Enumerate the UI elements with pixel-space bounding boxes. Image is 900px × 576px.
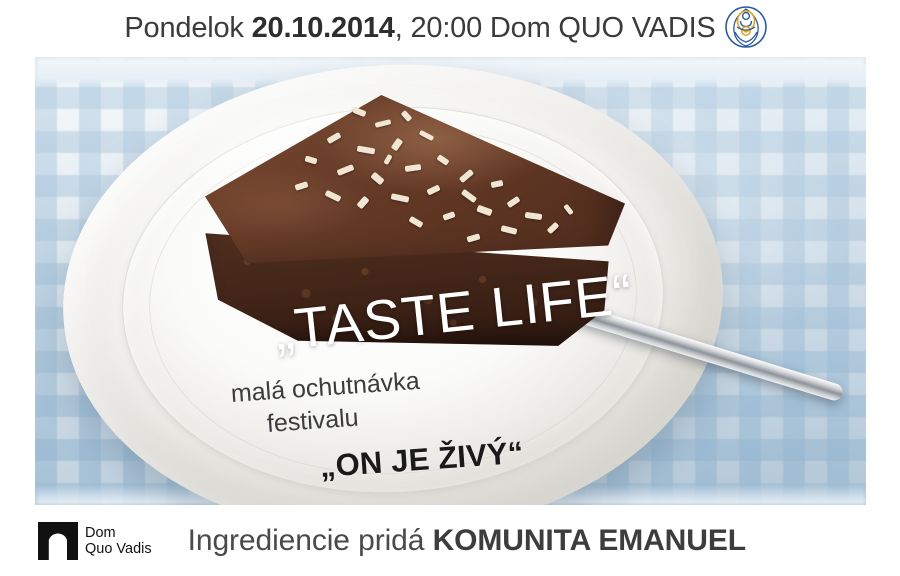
poster-footer: Dom Quo Vadis Ingrediencie pridá KOMUNIT… (0, 505, 900, 576)
poster-photo: „TASTE LIFE“ malá ochutnávka festivalu „… (35, 57, 866, 505)
event-time-venue: , 20:00 Dom QUO VADIS (395, 12, 716, 44)
dom-quo-vadis-logo: Dom Quo Vadis (38, 522, 152, 560)
dom-quo-vadis-arch-icon (38, 522, 78, 560)
event-day-label: Pondelok (124, 12, 251, 44)
partner-credit-line: Ingrediencie pridá KOMUNITA EMANUEL (188, 524, 746, 558)
quo-vadis-madonna-circle-icon (724, 5, 768, 49)
event-header: Pondelok 20.10.2014, 20:00 Dom QUO VADIS (0, 0, 900, 57)
event-header-inner: Pondelok 20.10.2014, 20:00 Dom QUO VADIS (124, 7, 767, 51)
event-date: 20.10.2014 (252, 12, 395, 44)
dqv-wordmark-line-2: Quo Vadis (85, 541, 152, 557)
cake-ganache-sheen (205, 95, 625, 270)
partner-name: KOMUNITA EMANUEL (433, 524, 746, 557)
partner-credit-prefix: Ingrediencie pridá (188, 524, 433, 557)
dqv-wordmark-line-1: Dom (85, 525, 152, 541)
event-datetime-line: Pondelok 20.10.2014, 20:00 Dom QUO VADIS (124, 12, 715, 45)
dom-quo-vadis-wordmark: Dom Quo Vadis (85, 525, 152, 557)
